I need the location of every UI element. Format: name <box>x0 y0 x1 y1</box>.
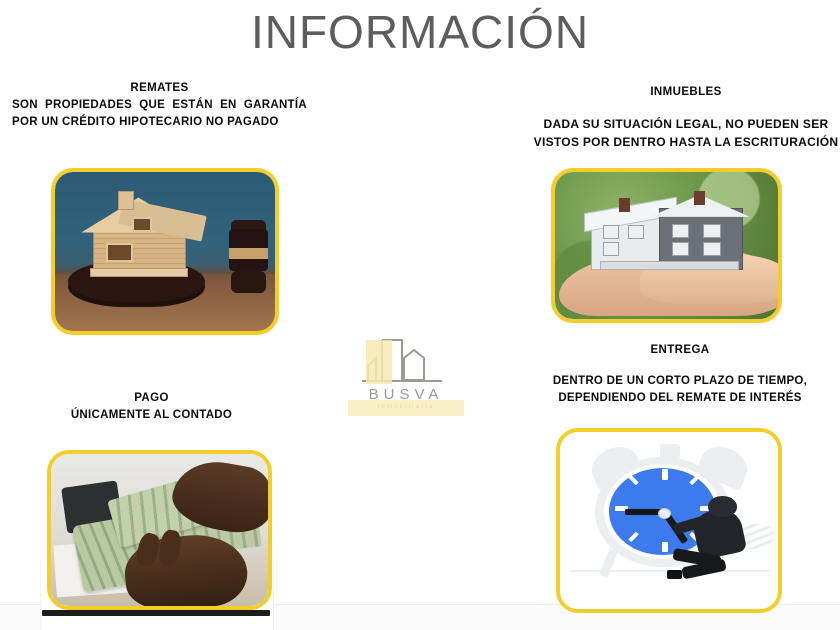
logo-wordmark: BUSVA <box>352 386 460 403</box>
section-body-entrega-line2: DEPENDIENDO DEL REMATE DE INTERÉS <box>520 390 840 408</box>
person-shoe <box>667 570 682 579</box>
section-body-remates: SON PROPIEDADES QUE ESTÁN EN GARANTÍA PO… <box>12 97 307 133</box>
photo-clock-deadline <box>560 432 778 609</box>
house-window <box>703 224 721 238</box>
gavel-ring <box>229 248 269 259</box>
logo-tagline: Inmobiliaria <box>352 404 460 410</box>
house-window <box>672 242 690 256</box>
image-frame-pago[interactable] <box>47 450 272 610</box>
section-text-pago: PAGO ÚNICAMENTE AL CONTADO <box>24 390 279 424</box>
clock-tick <box>662 542 667 553</box>
house-porch <box>600 261 739 270</box>
house-window <box>703 242 721 256</box>
section-heading-remates: REMATES <box>12 80 307 97</box>
model-house <box>86 197 200 273</box>
image-frame-remates[interactable] <box>51 168 279 335</box>
house-window <box>672 224 690 238</box>
section-heading-entrega: ENTREGA <box>520 342 840 359</box>
section-body-inmuebles-line1: DADA SU SITUACIÓN LEGAL, NO PUEDEN SER <box>516 115 840 134</box>
photo-remates-gavel-house <box>55 172 275 331</box>
house-window <box>603 242 619 256</box>
house-chimney <box>118 191 134 210</box>
photo-counting-money <box>51 454 268 606</box>
section-body-inmuebles-line2: VISTOS POR DENTRO HASTA LA ESCRITURACIÓN <box>516 133 840 152</box>
section-heading-inmuebles: INMUEBLES <box>516 84 840 101</box>
house-chimney-right <box>694 191 705 205</box>
image-frame-entrega[interactable] <box>556 428 782 613</box>
gavel-bottom <box>231 271 266 293</box>
house-window <box>628 225 644 238</box>
section-text-remates: REMATES SON PROPIEDADES QUE ESTÁN EN GAR… <box>12 80 307 132</box>
section-heading-pago: PAGO <box>24 390 279 407</box>
page-title: INFORMACIÓN <box>0 6 840 59</box>
clock-tick <box>662 469 667 480</box>
house-chimney-left <box>619 198 630 212</box>
bottom-left-dark-bar <box>42 610 270 616</box>
busva-watermark-logo: BUSVA Inmobiliaria <box>352 336 460 428</box>
person-head <box>708 496 736 517</box>
section-body-pago: ÚNICAMENTE AL CONTADO <box>24 407 279 425</box>
photo-hand-holding-house <box>555 172 778 319</box>
section-text-inmuebles: INMUEBLES DADA SU SITUACIÓN LEGAL, NO PU… <box>516 84 840 152</box>
section-body-entrega-line1: DENTRO DE UN CORTO PLAZO DE TIEMPO, <box>520 373 840 391</box>
house-porch <box>90 268 188 278</box>
image-frame-inmuebles[interactable] <box>551 168 782 323</box>
model-house-two-story <box>591 190 747 275</box>
house-window <box>603 225 619 238</box>
clock-center-pin <box>658 508 671 519</box>
section-text-entrega: ENTREGA DENTRO DE UN CORTO PLAZO DE TIEM… <box>520 342 840 408</box>
slide-canvas: INFORMACIÓN REMATES SON PROPIEDADES QUE … <box>0 0 840 630</box>
house-window-upper <box>132 217 152 232</box>
logo-highlight-swatch <box>366 340 392 384</box>
house-window-lower <box>106 243 133 262</box>
